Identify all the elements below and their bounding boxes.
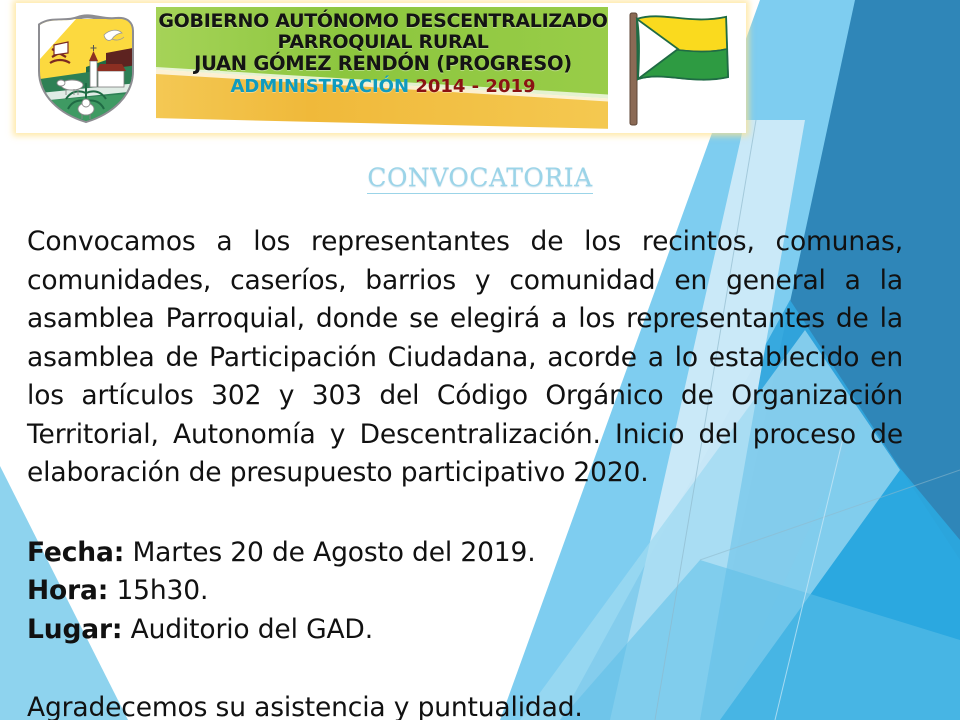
banner-admin-years: 2014 - 2019 <box>415 76 535 97</box>
detail-row-fecha: Fecha: Martes 20 de Agosto del 2019. <box>27 534 903 573</box>
detail-row-hora: Hora: 15h30. <box>27 572 903 611</box>
banner-line-3: JUAN GÓMEZ RENDÓN (PROGRESO) <box>148 53 618 74</box>
event-details: Fecha: Martes 20 de Agosto del 2019. Hor… <box>27 534 903 650</box>
convocatoria-paragraph: Convocamos a los representantes de los r… <box>27 223 903 493</box>
banner-line-1: GOBIERNO AUTÓNOMO DESCENTRALIZADO <box>148 11 618 32</box>
detail-value-fecha: Martes 20 de Agosto del 2019. <box>132 537 535 568</box>
coat-of-arms-icon <box>26 9 146 127</box>
detail-label-hora: Hora: <box>27 575 108 606</box>
closing-line: Agradecemos su asistencia y puntualidad. <box>27 689 903 720</box>
banner-administration-line: ADMINISTRACIÓN 2014 - 2019 <box>148 77 618 96</box>
detail-label-lugar: Lugar: <box>27 614 122 645</box>
detail-label-fecha: Fecha: <box>27 537 124 568</box>
header-banner: GOBIERNO AUTÓNOMO DESCENTRALIZADO PARROQ… <box>16 3 746 133</box>
slide: GOBIERNO AUTÓNOMO DESCENTRALIZADO PARROQ… <box>0 0 960 720</box>
page-title: CONVOCATORIA <box>0 163 960 194</box>
detail-value-hora: 15h30. <box>116 575 208 606</box>
detail-row-lugar: Lugar: Auditorio del GAD. <box>27 611 903 650</box>
banner-title-block: GOBIERNO AUTÓNOMO DESCENTRALIZADO PARROQ… <box>148 11 618 97</box>
page-title-text: CONVOCATORIA <box>367 163 592 194</box>
parish-flag-icon <box>618 7 740 129</box>
banner-line-2: PARROQUIAL RURAL <box>148 32 618 53</box>
content-area: Convocamos a los representantes de los r… <box>27 223 903 720</box>
banner-admin-word: ADMINISTRACIÓN <box>230 76 409 97</box>
detail-value-lugar: Auditorio del GAD. <box>131 614 373 645</box>
